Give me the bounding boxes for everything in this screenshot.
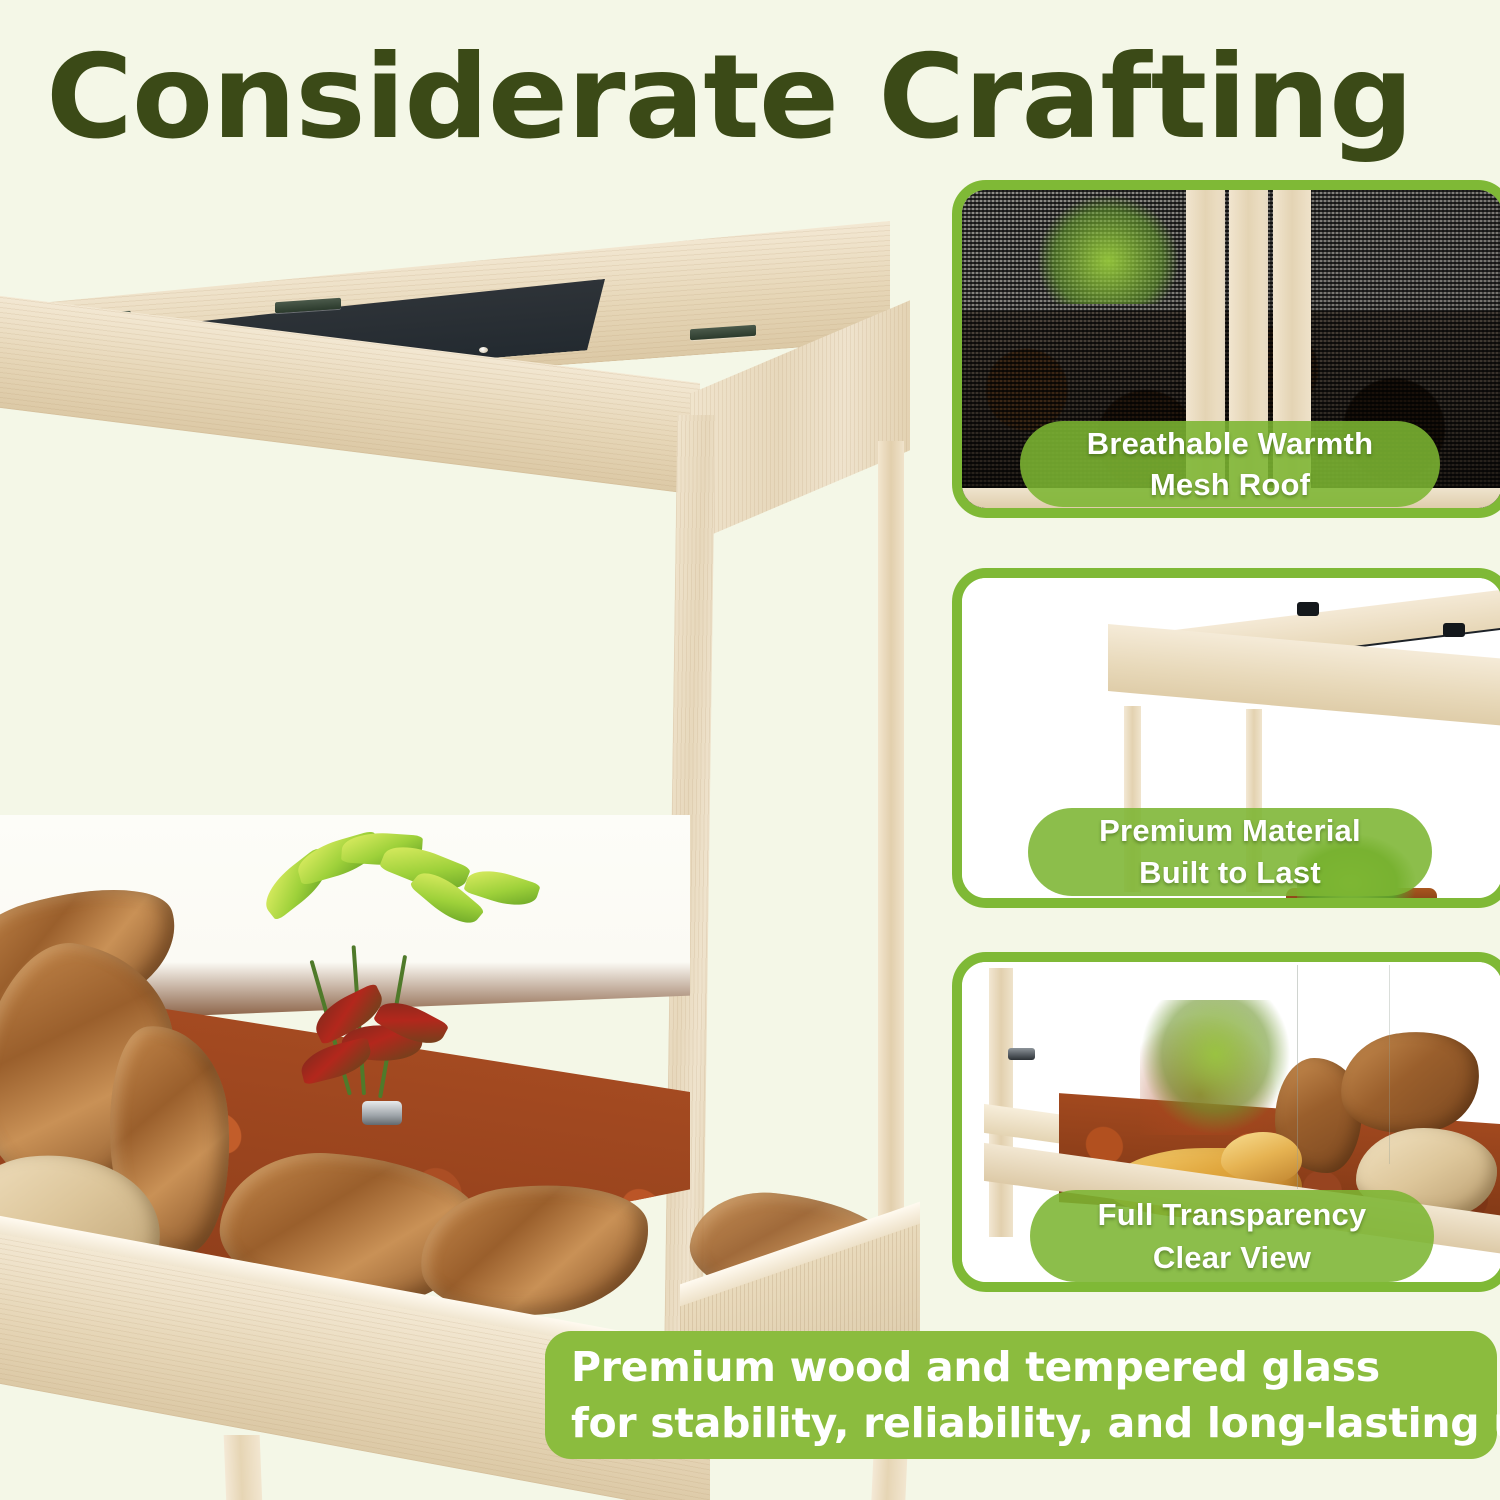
latch-icon	[1008, 1048, 1035, 1059]
banner-line2: for stability, reliability, and long-las…	[571, 1395, 1497, 1451]
panel-label-full-transparency: Full Transparency Clear View	[1030, 1190, 1434, 1282]
panel-label-line1: Full Transparency	[1098, 1193, 1367, 1236]
infographic-canvas: Considerate Crafting	[0, 0, 1500, 1500]
panel-label-line2: Built to Last	[1139, 852, 1321, 894]
bottom-caption-banner: Premium wood and tempered glass for stab…	[545, 1331, 1497, 1459]
panel-label-premium-material: Premium Material Built to Last	[1028, 808, 1432, 896]
panel-label-breathable-warmth: Breathable Warmth Mesh Roof	[1020, 421, 1440, 507]
hero-product-image	[0, 255, 950, 1500]
terrarium-leg	[224, 1435, 273, 1500]
banner-line1: Premium wood and tempered glass	[571, 1339, 1497, 1395]
panel-label-line2: Clear View	[1153, 1236, 1311, 1279]
panel-label-line1: Breathable Warmth	[1087, 423, 1373, 464]
panel-label-line1: Premium Material	[1099, 810, 1361, 852]
page-title: Considerate Crafting	[46, 38, 1500, 158]
suction-cup	[362, 1101, 402, 1125]
panel-label-line2: Mesh Roof	[1150, 464, 1310, 505]
screw-icon	[479, 347, 488, 353]
